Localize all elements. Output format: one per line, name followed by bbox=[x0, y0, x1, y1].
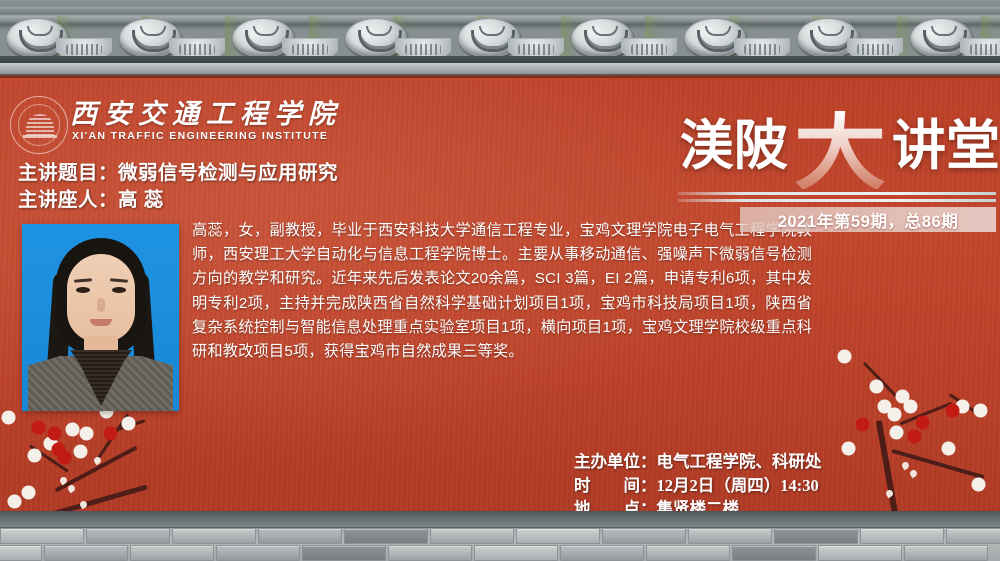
institution-logo: 西安交通工程学院 XI'AN TRAFFIC ENGINEERING INSTI… bbox=[8, 94, 338, 156]
speaker-bio: 高蕊，女，副教授，毕业于西安科技大学通信工程专业，宝鸡文理学院电子电气工程学院教… bbox=[192, 219, 812, 364]
issue-badge: 2021年第59期，总86期 bbox=[740, 207, 996, 232]
series-title-big-char: 大 bbox=[794, 111, 886, 189]
roof-red-trim bbox=[0, 76, 1000, 78]
event-info: 主办单位：电气工程学院、科研处 时 间：12月2日（周四）14:30 地 点：集… bbox=[574, 450, 904, 521]
lecture-speaker: 主讲座人：高 蕊 bbox=[18, 187, 438, 214]
brick-row bbox=[0, 528, 1000, 544]
issue-badge-label: 2021年第59期，总86期 bbox=[778, 208, 959, 232]
brick-top-band bbox=[0, 511, 1000, 528]
speaker-photo bbox=[22, 224, 179, 411]
title-rule-upper bbox=[678, 192, 996, 195]
brick-row bbox=[0, 545, 978, 561]
brick-rows bbox=[0, 528, 1000, 561]
university-seal-icon bbox=[10, 96, 68, 154]
institution-english-name: XI'AN TRAFFIC ENGINEERING INSTITUTE bbox=[72, 130, 342, 142]
series-title-right: 讲堂 bbox=[892, 119, 1000, 173]
roof-stone-ledge bbox=[0, 63, 1000, 76]
event-organizer: 主办单位：电气工程学院、科研处 bbox=[574, 450, 904, 474]
series-title: 渼陂 大 讲堂 bbox=[620, 96, 1000, 196]
roof-tile-border bbox=[0, 0, 1000, 78]
series-title-left: 渼陂 bbox=[680, 119, 788, 173]
brick-wall-base bbox=[0, 511, 1000, 561]
lecture-topic: 主讲题目：微弱信号检测与应用研究 bbox=[18, 160, 438, 187]
lecture-poster-banner: 西安交通工程学院 XI'AN TRAFFIC ENGINEERING INSTI… bbox=[0, 0, 1000, 561]
lecture-headline: 主讲题目：微弱信号检测与应用研究 主讲座人：高 蕊 bbox=[18, 160, 438, 214]
institution-chinese-name: 西安交通工程学院 bbox=[70, 92, 338, 134]
title-rule-lower bbox=[678, 199, 996, 202]
event-time: 时 间：12月2日（周四）14:30 bbox=[574, 474, 904, 498]
